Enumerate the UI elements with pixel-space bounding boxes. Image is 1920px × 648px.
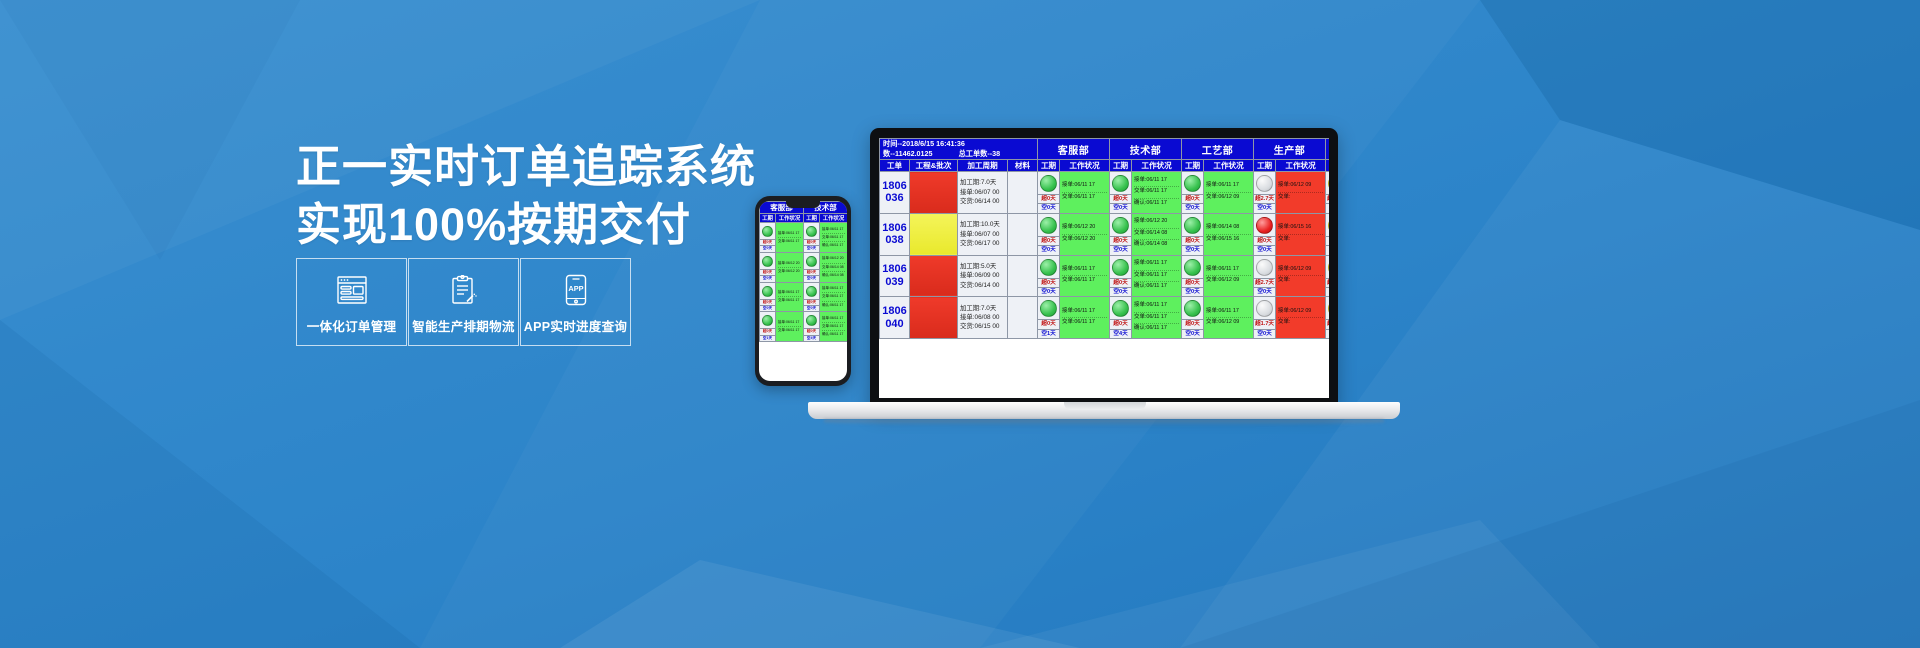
- dept-header-3[interactable]: 工艺部: [1182, 139, 1254, 160]
- status-lamp-green: [1184, 300, 1201, 317]
- feature-label: 智能生产排期物流: [412, 316, 514, 335]
- status-note-2: 交单:: [1278, 235, 1323, 245]
- cycle-line-3: 交货:06/17 00: [960, 239, 1005, 248]
- status-note-1: 接单:06/12 09: [1278, 265, 1323, 276]
- order-no-top: 1806: [880, 222, 909, 235]
- status-note-2: 交单:06/12 09: [1206, 193, 1251, 203]
- idle-days-badge: 空0天: [1110, 287, 1131, 296]
- idle-days-badge: 空0天: [1182, 203, 1203, 212]
- status-note-1: 接单:06/12 20: [1062, 223, 1107, 234]
- status-note-1: 接单:06/11 17: [1062, 265, 1107, 276]
- cycle-line-3: 交货:06/14 00: [960, 197, 1005, 206]
- order-no-bottom: 036: [880, 192, 909, 205]
- status-lamp-green: [806, 256, 817, 267]
- status-note-2: 交单:06/11 17: [778, 238, 801, 245]
- status-lamp-yellow: [1328, 300, 1329, 317]
- project-batch-cell: [910, 297, 958, 339]
- status-note-3: 确认:06/11 17: [1134, 199, 1179, 209]
- cycle-line-2: 接单:06/09 00: [960, 271, 1005, 280]
- dept-header-2[interactable]: 技术部: [1110, 139, 1182, 160]
- dept-period-cell-3: 超0天空0天: [1182, 297, 1204, 339]
- status-note-2: 交单:06/15 16: [1206, 235, 1251, 245]
- processing-cycle-cell: 加工期:7.0天接单:06/07 00交货:06/14 00: [958, 172, 1008, 214]
- dept-period-cell-4: 超0天空0天: [1254, 213, 1276, 255]
- idle-days-badge: 空0天: [1110, 245, 1131, 254]
- status-note-1: 接单:06/11 17: [1134, 301, 1179, 312]
- order-no-top: 1806: [880, 305, 909, 318]
- cycle-line-1: 加工期:7.0天: [960, 304, 1005, 313]
- status-note-2: 交单:06/11 17: [1062, 193, 1107, 203]
- status-lamp-green: [762, 315, 773, 326]
- laptop-screen[interactable]: 时间--2018/6/15 16:41:36数--11462.0125总工单数-…: [879, 138, 1329, 398]
- project-batch-text: [910, 220, 957, 249]
- processing-cycle-cell: 加工期:10.0天接单:06/07 00交货:06/17 00: [958, 213, 1008, 255]
- column-header-3[interactable]: 加工周期: [958, 160, 1008, 172]
- subcolumn-header-5-1[interactable]: 工期: [1326, 160, 1329, 172]
- feature-label: APP实时进度查询: [524, 316, 627, 335]
- subcolumn-header-1-1[interactable]: 工期: [1038, 160, 1060, 172]
- status-lamp-green: [806, 286, 817, 297]
- idle-days-badge: 空0天: [760, 275, 775, 281]
- dept-header-5[interactable]: 跟单部: [1326, 139, 1329, 160]
- cycle-line-2: 接单:06/07 00: [960, 188, 1005, 197]
- status-lamp-green: [806, 315, 817, 326]
- dept-work-status-cell-4: 接单:06/12 09交单:: [1276, 297, 1326, 339]
- column-header-2[interactable]: 工程&批次: [910, 160, 958, 172]
- dept-period-cell-2: 超0天空0天: [1110, 213, 1132, 255]
- dept-work-status-cell-4: 接单:06/12 09交单:: [1276, 172, 1326, 214]
- over-days-badge: 超1.7天: [1326, 194, 1329, 203]
- project-batch-text: [910, 303, 957, 332]
- idle-days-badge: 空0天: [1254, 287, 1275, 296]
- over-days-badge: 超0天: [1110, 278, 1131, 287]
- dept-period-cell-2: 超0天空0天: [1110, 255, 1132, 297]
- table-row[interactable]: 1806038 加工期:10.0天接单:06/07 00交货:06/17 00 …: [880, 213, 1330, 255]
- status-lamp-green: [1040, 300, 1057, 317]
- over-days-badge: 超0天: [1038, 278, 1059, 287]
- status-lamp-gray: [1256, 259, 1273, 276]
- dept-work-status-cell-3: 接单:06/11 17交单:06/12 09: [1204, 172, 1254, 214]
- idle-days-badge: 空0天: [1182, 329, 1203, 338]
- dept-period-cell-5: 超1.7天空0天: [1326, 172, 1329, 214]
- table-header-row-columns: 工单工程&批次加工周期材料工期工作状况工期工作状况工期工作状况工期工作状况工期工…: [880, 160, 1330, 172]
- material-cell: [1008, 213, 1038, 255]
- order-number-cell: 1806038: [880, 213, 910, 255]
- cycle-line-1: 加工期:7.0天: [960, 178, 1005, 187]
- idle-days-badge: 空1天: [760, 335, 775, 341]
- order-no-bottom: 040: [880, 318, 909, 331]
- idle-days-badge: 空0天: [1326, 287, 1329, 296]
- dashboard-info-block: 时间--2018/6/15 16:41:36数--11462.0125总工单数-…: [880, 139, 1038, 160]
- project-batch-text: [910, 178, 957, 207]
- idle-days-badge: 空0天: [760, 245, 775, 251]
- laptop-mockup: 时间--2018/6/15 16:41:36数--11462.0125总工单数-…: [818, 128, 1338, 428]
- status-lamp-gray: [1256, 300, 1273, 317]
- idle-days-badge: 空0天: [1254, 245, 1275, 254]
- status-lamp-green: [1112, 300, 1129, 317]
- order-no-bottom: 039: [880, 276, 909, 289]
- over-days-badge: 超2.7天: [1254, 278, 1275, 287]
- dept-work-status-cell-1: 接单:06/11 17交单:06/11 17: [1060, 255, 1110, 297]
- status-note-1: 接单:06/11 17: [1062, 307, 1107, 318]
- status-note-2: 交单:06/11 17: [1134, 313, 1179, 324]
- dashboard-counts: 数--11462.0125总工单数--38: [883, 149, 1037, 159]
- status-lamp-green: [1112, 217, 1129, 234]
- dashboard-time: 时间--2018/6/15 16:41:36: [883, 139, 1037, 149]
- idle-days-badge: 空0天: [1038, 245, 1059, 254]
- order-no-bottom: 038: [880, 234, 909, 247]
- processing-cycle-cell: 加工期:5.0天接单:06/09 00交货:06/14 00: [958, 255, 1008, 297]
- idle-days-badge: 空0天: [760, 305, 775, 311]
- feature-label: 一体化订单管理: [307, 316, 397, 335]
- feature-list: 一体化订单管理 智能生产排期物流: [296, 258, 632, 346]
- phone-work-status-cell-1: 接单:06/11 17交单:06/11 17: [776, 312, 804, 342]
- over-days-badge: 超0天: [1110, 319, 1131, 328]
- status-lamp-green: [1040, 175, 1057, 192]
- cycle-line-1: 加工期:10.0天: [960, 220, 1005, 229]
- subcolumn-header-3-2[interactable]: 工作状况: [1204, 160, 1254, 172]
- status-lamp-red: [1256, 217, 1273, 234]
- over-days-badge: 超0天: [1182, 236, 1203, 245]
- over-days-badge: 超0天: [1254, 236, 1275, 245]
- status-note-1: 接单:06/11 17: [1062, 181, 1107, 192]
- dept-period-cell-2: 超0天空4天: [1110, 297, 1132, 339]
- table-row[interactable]: 1806036 加工期:7.0天接单:06/07 00交货:06/14 00 超…: [880, 172, 1330, 214]
- dept-period-cell-3: 超0天空0天: [1182, 213, 1204, 255]
- status-note-2: 交单:06/11 17: [1062, 318, 1107, 328]
- status-note-2: 交单:06/11 17: [778, 297, 801, 304]
- dept-header-1[interactable]: 客服部: [1038, 139, 1110, 160]
- over-days-badge: 超0天: [1038, 319, 1059, 328]
- order-no-top: 1806: [880, 263, 909, 276]
- status-lamp-green: [806, 226, 817, 237]
- idle-days-badge: 空4天: [804, 335, 819, 341]
- project-batch-cell: [910, 255, 958, 297]
- order-number-cell: 1806036: [880, 172, 910, 214]
- status-lamp-green: [762, 256, 773, 267]
- order-no-top: 1806: [880, 180, 909, 193]
- status-note-1: 接单:06/11 17: [778, 289, 801, 297]
- over-days-badge: 超1.7天: [1254, 319, 1275, 328]
- idle-days-badge: 空0天: [1254, 203, 1275, 212]
- feature-card-app-progress-query[interactable]: APP APP实时进度查询: [520, 258, 631, 346]
- status-note-2: 交单:06/14 08: [1134, 229, 1179, 240]
- dept-period-cell-3: 超0天空0天: [1182, 172, 1204, 214]
- project-batch-cell: [910, 213, 958, 255]
- laptop-shadow: [824, 419, 1384, 426]
- over-days-badge: 超0天: [1182, 194, 1203, 203]
- dept-work-status-cell-3: 接单:06/11 17交单:06/12 09: [1204, 297, 1254, 339]
- status-note-2: 交单:06/11 17: [778, 327, 801, 334]
- subcolumn-header-1-2[interactable]: 工作状况: [1060, 160, 1110, 172]
- laptop-base: [808, 402, 1400, 432]
- dept-work-status-cell-1: 接单:06/11 17交单:06/11 17: [1060, 172, 1110, 214]
- phone-period-cell-1: 超0天空1天: [760, 312, 776, 342]
- cycle-line-3: 交货:06/14 00: [960, 281, 1005, 290]
- idle-days-badge: 空4天: [1110, 329, 1131, 338]
- phone-period-cell-1: 超0天空0天: [760, 223, 776, 253]
- processing-cycle-cell: 加工期:7.0天接单:06/08 00交货:06/15 00: [958, 297, 1008, 339]
- subcolumn-header-3-1[interactable]: 工期: [1182, 160, 1204, 172]
- material-cell: [1008, 172, 1038, 214]
- mobile-app-icon: APP: [565, 273, 587, 307]
- over-days-badge: 超0天: [1182, 319, 1203, 328]
- idle-days-badge: 空0天: [1110, 203, 1131, 212]
- dept-work-status-cell-3: 接单:06/14 08交单:06/15 16: [1204, 213, 1254, 255]
- over-days-badge: 超0天: [1110, 194, 1131, 203]
- status-lamp-yellow: [1328, 259, 1329, 276]
- over-days-badge: 超2.7天: [1254, 194, 1275, 203]
- status-note-3: 确认:06/11 17: [1134, 324, 1179, 334]
- column-header-1[interactable]: 工单: [880, 160, 910, 172]
- status-lamp-green: [1040, 217, 1057, 234]
- cycle-line-1: 加工期:5.0天: [960, 262, 1005, 271]
- status-note-2: 交单:06/12 09: [1206, 276, 1251, 286]
- status-lamp-green: [1112, 259, 1129, 276]
- cycle-line-2: 接单:06/08 00: [960, 313, 1005, 322]
- idle-days-badge: 空0天: [804, 305, 819, 311]
- phone-subcolumn-header-1-2[interactable]: 工作状况: [776, 214, 804, 223]
- status-lamp-gray: [1256, 175, 1273, 192]
- status-note-2: 交单:06/12 20: [778, 268, 801, 275]
- over-days-badge: 超1.7天: [1326, 278, 1329, 287]
- status-note-1: 接单:06/12 09: [1278, 181, 1323, 192]
- dept-period-cell-1: 超0天空0天: [1038, 213, 1060, 255]
- dept-work-status-cell-2: 接单:06/11 17交单:06/11 17确认:06/11 17: [1132, 255, 1182, 297]
- status-note-1: 接单:06/14 08: [1206, 223, 1251, 234]
- status-note-2: 交单:06/12 20: [1062, 235, 1107, 245]
- app-badge-text: APP: [568, 284, 583, 293]
- status-lamp-yellow: [1328, 175, 1329, 192]
- phone-work-status-cell-1: 接单:06/11 17交单:06/11 17: [776, 282, 804, 312]
- phone-work-status-cell-1: 接单:06/12 20交单:06/12 20: [776, 252, 804, 282]
- dept-period-cell-1: 超0天空0天: [1038, 255, 1060, 297]
- status-note-2: 交单:: [1278, 276, 1323, 286]
- project-batch-text: [910, 262, 957, 291]
- status-note-3: 确认:06/14 08: [1134, 240, 1179, 250]
- idle-days-badge: 空0天: [804, 275, 819, 281]
- status-note-2: 交单:06/12 09: [1206, 318, 1251, 328]
- column-header-4[interactable]: 材料: [1008, 160, 1038, 172]
- dept-period-cell-4: 超1.7天空0天: [1254, 297, 1276, 339]
- over-days-badge: 超0天: [1038, 236, 1059, 245]
- phone-dept-header-1[interactable]: 客服部: [760, 202, 804, 214]
- status-lamp-green: [1184, 175, 1201, 192]
- status-note-1: 接单:06/12 20: [1134, 217, 1179, 228]
- status-lamp-green: [762, 286, 773, 297]
- dept-work-status-cell-1: 接单:06/11 17交单:06/11 17: [1060, 297, 1110, 339]
- dept-work-status-cell-2: 接单:06/11 17交单:06/11 17确认:06/11 17: [1132, 297, 1182, 339]
- dept-work-status-cell-2: 接单:06/12 20交单:06/14 08确认:06/14 08: [1132, 213, 1182, 255]
- status-lamp-yellow: [1328, 217, 1329, 234]
- phone-period-cell-1: 超0天空0天: [760, 282, 776, 312]
- order-tracking-table: 时间--2018/6/15 16:41:36数--11462.0125总工单数-…: [879, 138, 1329, 339]
- subcolumn-header-2-1[interactable]: 工期: [1110, 160, 1132, 172]
- status-note-2: 交单:06/11 17: [1134, 271, 1179, 282]
- subcolumn-header-4-1[interactable]: 工期: [1254, 160, 1276, 172]
- dept-period-cell-4: 超2.7天空0天: [1254, 255, 1276, 297]
- status-note-3: 确认:06/11 17: [1134, 282, 1179, 292]
- material-cell: [1008, 255, 1038, 297]
- phone-work-status-cell-1: 接单:06/11 17交单:06/11 17: [776, 223, 804, 253]
- dept-work-status-cell-2: 接单:06/11 17交单:06/11 17确认:06/11 17: [1132, 172, 1182, 214]
- status-note-1: 接单:06/11 17: [1134, 259, 1179, 270]
- dept-header-4[interactable]: 生产部: [1254, 139, 1326, 160]
- project-batch-cell: [910, 172, 958, 214]
- idle-days-badge: 空0天: [1038, 287, 1059, 296]
- status-note-2: 交单:06/11 17: [1134, 187, 1179, 198]
- phone-period-cell-1: 超0天空0天: [760, 252, 776, 282]
- feature-card-order-management[interactable]: 一体化订单管理: [296, 258, 407, 346]
- over-days-badge: 超0天: [1326, 236, 1329, 245]
- hero-banner: 正一实时订单追踪系统 实现100%按期交付 一体化订单管理: [0, 0, 1920, 648]
- table-row[interactable]: 1806040 加工期:7.0天接单:06/08 00交货:06/15 00 超…: [880, 297, 1330, 339]
- cycle-line-3: 交货:06/15 00: [960, 322, 1005, 331]
- status-note-1: 接单:06/11 17: [1206, 265, 1251, 276]
- status-lamp-green: [1040, 259, 1057, 276]
- status-note-1: 接单:06/11 17: [778, 230, 801, 238]
- idle-days-badge: 空0天: [1326, 245, 1329, 254]
- clipboard-checklist-icon: [451, 273, 477, 307]
- dept-period-cell-5: 超1.7天空0天: [1326, 255, 1329, 297]
- idle-days-badge: 空0天: [1182, 245, 1203, 254]
- feature-card-production-scheduling[interactable]: 智能生产排期物流: [408, 258, 519, 346]
- status-note-1: 接单:06/12 09: [1278, 307, 1323, 318]
- idle-days-badge: 空0天: [1038, 203, 1059, 212]
- status-note-1: 接单:06/11 17: [1206, 307, 1251, 318]
- dept-work-status-cell-4: 接单:06/12 09交单:: [1276, 255, 1326, 297]
- order-number-cell: 1806040: [880, 297, 910, 339]
- cycle-line-2: 接单:06/07 00: [960, 230, 1005, 239]
- phone-subcolumn-header-1-1[interactable]: 工期: [760, 214, 776, 223]
- status-lamp-green: [1112, 175, 1129, 192]
- dept-period-cell-5: 超0天空0天: [1326, 213, 1329, 255]
- dept-period-cell-3: 超0天空0天: [1182, 255, 1204, 297]
- status-lamp-green: [1184, 259, 1201, 276]
- idle-days-badge: 空0天: [1182, 287, 1203, 296]
- status-lamp-green: [1184, 217, 1201, 234]
- status-note-2: 交单:06/11 17: [1062, 276, 1107, 286]
- table-header-row-departments: 时间--2018/6/15 16:41:36数--11462.0125总工单数-…: [880, 139, 1330, 160]
- subcolumn-header-4-2[interactable]: 工作状况: [1276, 160, 1326, 172]
- status-note-2: 交单:: [1278, 193, 1323, 203]
- over-days-badge: 超0天: [1110, 236, 1131, 245]
- dept-period-cell-2: 超0天空0天: [1110, 172, 1132, 214]
- status-note-1: 接单:06/11 17: [1206, 181, 1251, 192]
- material-cell: [1008, 297, 1038, 339]
- status-lamp-green: [762, 226, 773, 237]
- window-layout-icon: [337, 273, 367, 307]
- idle-days-badge: 空1天: [1038, 329, 1059, 338]
- status-note-1: 接单:06/11 17: [1134, 176, 1179, 187]
- dept-period-cell-5: 超0.7天空1天: [1326, 297, 1329, 339]
- idle-days-badge: 空0天: [1254, 329, 1275, 338]
- dept-work-status-cell-3: 接单:06/11 17交单:06/12 09: [1204, 255, 1254, 297]
- dept-work-status-cell-1: 接单:06/12 20交单:06/12 20: [1060, 213, 1110, 255]
- dept-period-cell-1: 超0天空1天: [1038, 297, 1060, 339]
- status-note-2: 交单:: [1278, 318, 1323, 328]
- laptop-notch: [1064, 402, 1146, 410]
- order-number-cell: 1806039: [880, 255, 910, 297]
- idle-days-badge: 空0天: [804, 245, 819, 251]
- order-tracking-dashboard: 时间--2018/6/15 16:41:36数--11462.0125总工单数-…: [879, 138, 1329, 398]
- laptop-lid: 时间--2018/6/15 16:41:36数--11462.0125总工单数-…: [870, 128, 1338, 410]
- over-days-badge: 超0天: [1038, 194, 1059, 203]
- over-days-badge: 超0.7天: [1326, 319, 1329, 328]
- table-row[interactable]: 1806039 加工期:5.0天接单:06/09 00交货:06/14 00 超…: [880, 255, 1330, 297]
- over-days-badge: 超0天: [1182, 278, 1203, 287]
- dept-period-cell-4: 超2.7天空0天: [1254, 172, 1276, 214]
- status-note-1: 接单:06/15 16: [1278, 223, 1323, 234]
- idle-days-badge: 空0天: [1326, 203, 1329, 212]
- idle-days-badge: 空1天: [1326, 329, 1329, 338]
- dept-period-cell-1: 超0天空0天: [1038, 172, 1060, 214]
- status-note-1: 接单:06/12 20: [778, 260, 801, 268]
- dept-work-status-cell-4: 接单:06/15 16交单:: [1276, 213, 1326, 255]
- subcolumn-header-2-2[interactable]: 工作状况: [1132, 160, 1182, 172]
- status-note-1: 接单:06/11 17: [778, 319, 801, 327]
